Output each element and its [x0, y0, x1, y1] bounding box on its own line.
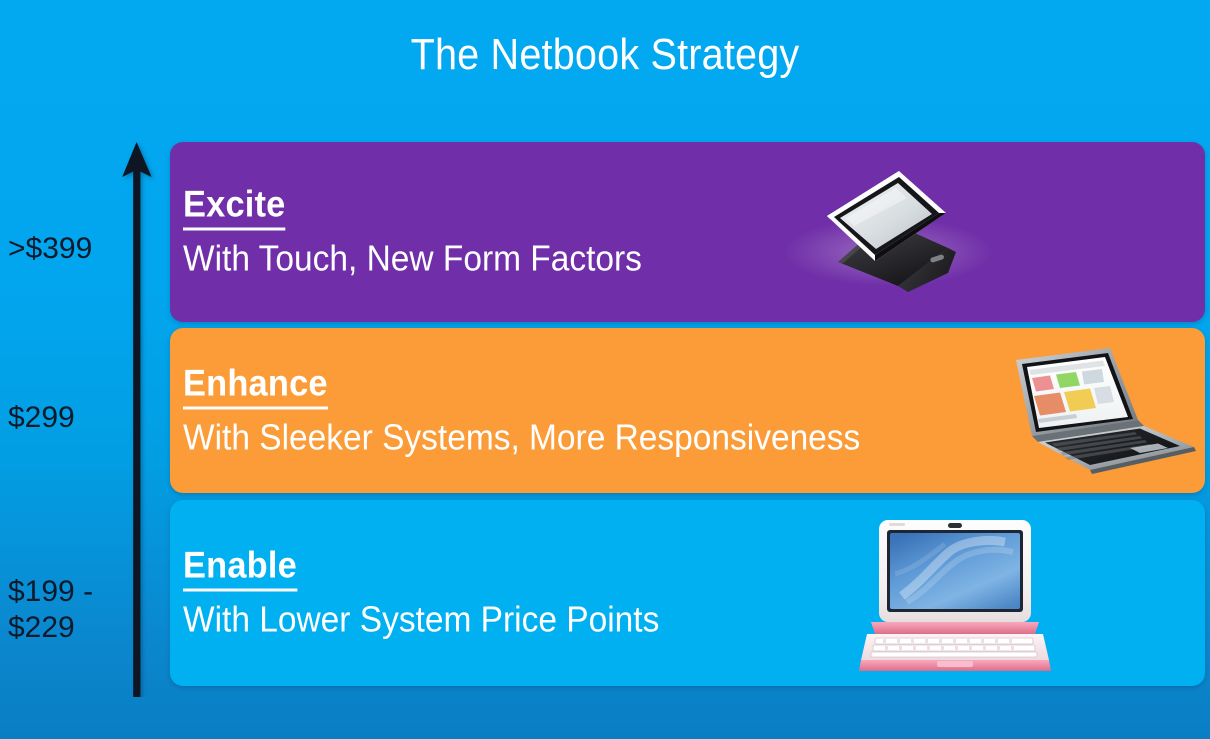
- band-enable[interactable]: Enable With Lower System Price Points: [170, 500, 1205, 686]
- band-excite[interactable]: Excite With Touch, New Form Factors: [170, 142, 1205, 322]
- page-title: The Netbook Strategy: [61, 26, 1150, 84]
- arrow-up-icon: [118, 141, 156, 697]
- convertible-tablet-icon: [780, 156, 1010, 306]
- band-enable-subtitle: With Lower System Price Points: [183, 597, 659, 643]
- laptop-icon: [998, 344, 1203, 479]
- band-excite-subtitle: With Touch, New Form Factors: [183, 236, 642, 282]
- price-label-enable: $199 - $229: [8, 574, 120, 646]
- pink-netbook-image: [845, 508, 1065, 678]
- sleek-laptop-image: [998, 344, 1203, 479]
- netbook-icon: [845, 508, 1065, 678]
- band-excite-text: Excite With Touch, New Form Factors: [183, 183, 676, 282]
- price-label-enhance: $299: [8, 400, 120, 436]
- band-enhance-headline: Enhance: [183, 361, 328, 409]
- slide-canvas: The Netbook Strategy >$399 $299 $199 - $…: [0, 0, 1210, 739]
- band-enhance-subtitle: With Sleeker Systems, More Responsivenes…: [183, 414, 860, 460]
- band-enhance-text: Enhance With Sleeker Systems, More Respo…: [183, 361, 911, 460]
- price-axis-arrow: [118, 141, 156, 697]
- convertible-tablet-image: [780, 156, 1010, 306]
- price-label-excite: >$399: [8, 231, 120, 267]
- band-enable-text: Enable With Lower System Price Points: [183, 544, 695, 643]
- band-excite-headline: Excite: [183, 183, 286, 231]
- band-enable-headline: Enable: [183, 544, 297, 592]
- band-enhance[interactable]: Enhance With Sleeker Systems, More Respo…: [170, 328, 1205, 493]
